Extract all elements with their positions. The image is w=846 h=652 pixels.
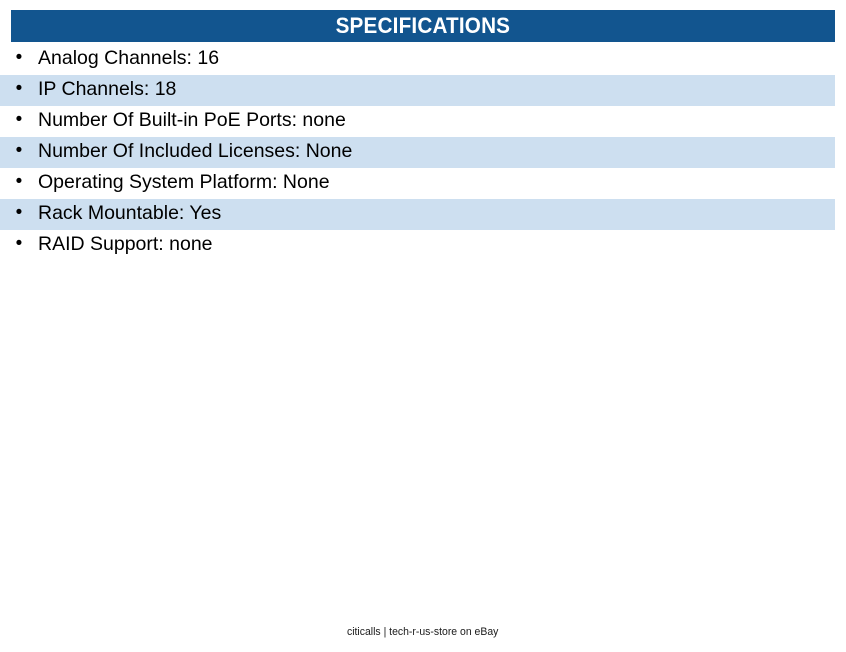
bullet-icon: • (0, 234, 38, 253)
list-item-label: RAID Support: none (38, 235, 213, 255)
list-item-label: Analog Channels: 16 (38, 49, 219, 69)
footer-store-credit: citicalls | tech-r-us-store on eBay (347, 626, 498, 638)
specifications-list: • Analog Channels: 16 • IP Channels: 18 … (0, 44, 846, 261)
bullet-icon: • (0, 79, 38, 98)
bullet-icon: • (0, 203, 38, 222)
bullet-icon: • (0, 48, 38, 67)
list-item-label: Number Of Built-in PoE Ports: none (38, 111, 346, 131)
list-item: • Analog Channels: 16 (0, 44, 846, 75)
page-title: SPECIFICATIONS (336, 15, 511, 37)
list-item: • Operating System Platform: None (0, 168, 846, 199)
footer: citicalls | tech-r-us-store on eBay (0, 622, 846, 640)
list-item: • IP Channels: 18 (0, 75, 846, 106)
bullet-icon: • (0, 110, 38, 129)
list-item-label: Operating System Platform: None (38, 173, 330, 193)
list-item: • Rack Mountable: Yes (0, 199, 846, 230)
list-item: • Number Of Built-in PoE Ports: none (0, 106, 846, 137)
bullet-icon: • (0, 172, 38, 191)
list-item: • RAID Support: none (0, 230, 846, 261)
specifications-header-bar: SPECIFICATIONS (11, 10, 835, 42)
specifications-sheet: SPECIFICATIONS • Analog Channels: 16 • I… (0, 0, 846, 652)
list-item-label: Number Of Included Licenses: None (38, 142, 352, 162)
list-item-label: Rack Mountable: Yes (38, 204, 221, 224)
bullet-icon: • (0, 141, 38, 160)
list-item: • Number Of Included Licenses: None (0, 137, 846, 168)
list-item-label: IP Channels: 18 (38, 80, 176, 100)
